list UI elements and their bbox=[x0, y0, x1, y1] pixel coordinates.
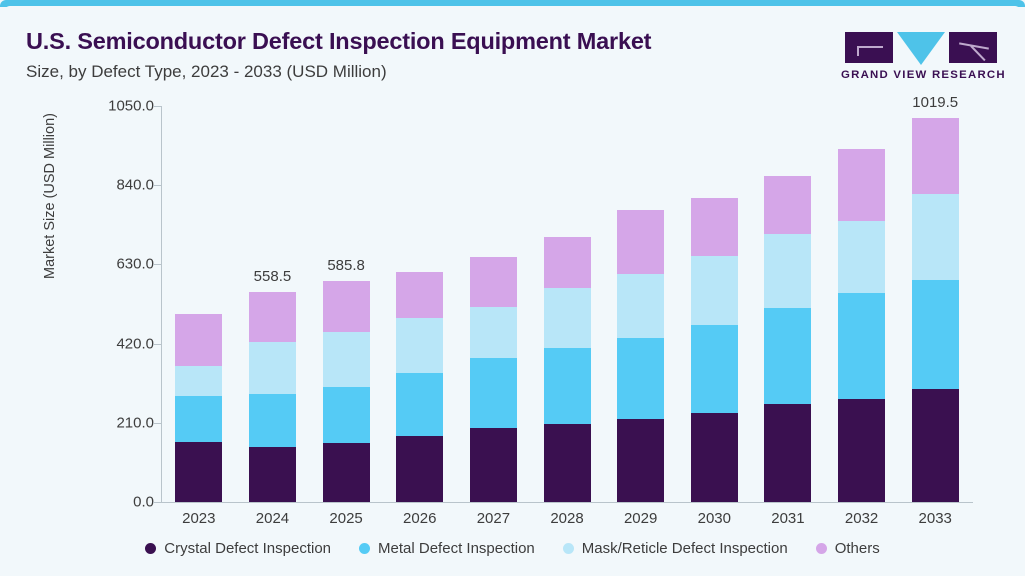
bar-segment-mask-reticle-defect-inspection[interactable] bbox=[249, 342, 296, 394]
bar-segment-metal-defect-inspection[interactable] bbox=[249, 394, 296, 446]
bar-segment-crystal-defect-inspection[interactable] bbox=[691, 413, 738, 502]
legend-label: Mask/Reticle Defect Inspection bbox=[582, 540, 788, 557]
legend-item-mask-reticle-defect-inspection[interactable]: Mask/Reticle Defect Inspection bbox=[563, 540, 788, 557]
x-axis-tick-label: 2028 bbox=[550, 510, 583, 527]
legend-item-metal-defect-inspection[interactable]: Metal Defect Inspection bbox=[359, 540, 535, 557]
chart-legend: Crystal Defect InspectionMetal Defect In… bbox=[4, 540, 1021, 557]
bar-group-2026[interactable]: 2026 bbox=[383, 106, 457, 502]
y-axis-tick-mark bbox=[153, 264, 162, 265]
bar-segment-metal-defect-inspection[interactable] bbox=[912, 280, 959, 389]
bar-segment-metal-defect-inspection[interactable] bbox=[323, 387, 370, 443]
bar-segment-mask-reticle-defect-inspection[interactable] bbox=[175, 366, 222, 395]
bar-segment-metal-defect-inspection[interactable] bbox=[691, 325, 738, 413]
bar-segment-others[interactable] bbox=[912, 118, 959, 194]
bar-value-label: 585.8 bbox=[327, 257, 365, 274]
bar-segment-mask-reticle-defect-inspection[interactable] bbox=[764, 234, 811, 308]
y-axis-tick-label: 420.0 bbox=[54, 335, 154, 352]
bar-stack[interactable] bbox=[544, 237, 591, 502]
bar-segment-others[interactable] bbox=[617, 210, 664, 274]
bar-segment-others[interactable] bbox=[323, 281, 370, 332]
legend-swatch-icon bbox=[145, 543, 156, 554]
bar-group-2028[interactable]: 2028 bbox=[530, 106, 604, 502]
bar-series-container: 2023558.52024585.82025202620272028202920… bbox=[162, 106, 972, 502]
bar-segment-others[interactable] bbox=[838, 149, 885, 221]
y-axis-tick-mark bbox=[153, 502, 162, 503]
bar-stack[interactable]: 585.8 bbox=[323, 281, 370, 502]
legend-swatch-icon bbox=[359, 543, 370, 554]
x-axis-tick-label: 2032 bbox=[845, 510, 878, 527]
bar-stack[interactable] bbox=[764, 176, 811, 502]
bar-stack[interactable] bbox=[470, 257, 517, 502]
bar-segment-crystal-defect-inspection[interactable] bbox=[838, 399, 885, 502]
bar-segment-mask-reticle-defect-inspection[interactable] bbox=[396, 318, 443, 373]
bar-stack[interactable] bbox=[838, 149, 885, 502]
bar-group-2025[interactable]: 585.82025 bbox=[309, 106, 383, 502]
bar-group-2024[interactable]: 558.52024 bbox=[236, 106, 310, 502]
y-axis-tick-label: 1050.0 bbox=[54, 98, 154, 115]
bar-segment-crystal-defect-inspection[interactable] bbox=[544, 424, 591, 502]
x-axis-tick-label: 2029 bbox=[624, 510, 657, 527]
bar-segment-others[interactable] bbox=[544, 237, 591, 288]
y-axis-tick-label: 630.0 bbox=[54, 256, 154, 273]
bar-group-2031[interactable]: 2031 bbox=[751, 106, 825, 502]
bar-stack[interactable] bbox=[691, 198, 738, 502]
y-axis-tick-label: 840.0 bbox=[54, 177, 154, 194]
bar-segment-crystal-defect-inspection[interactable] bbox=[617, 419, 664, 502]
bar-value-label: 558.5 bbox=[254, 268, 292, 285]
x-axis-line bbox=[161, 502, 973, 503]
y-axis-tick-mark bbox=[153, 344, 162, 345]
bar-segment-crystal-defect-inspection[interactable] bbox=[396, 436, 443, 502]
y-axis-tick-mark bbox=[153, 106, 162, 107]
bar-segment-metal-defect-inspection[interactable] bbox=[470, 358, 517, 428]
x-axis-tick-label: 2026 bbox=[403, 510, 436, 527]
bar-segment-others[interactable] bbox=[470, 257, 517, 307]
bar-segment-mask-reticle-defect-inspection[interactable] bbox=[323, 332, 370, 387]
y-axis-tick-label: 0.0 bbox=[54, 494, 154, 511]
y-axis-tick-label: 210.0 bbox=[54, 414, 154, 431]
x-axis-tick-label: 2025 bbox=[329, 510, 362, 527]
legend-label: Crystal Defect Inspection bbox=[164, 540, 331, 557]
bar-group-2027[interactable]: 2027 bbox=[457, 106, 531, 502]
y-axis-tick-mark bbox=[153, 423, 162, 424]
y-axis-tick-mark bbox=[153, 185, 162, 186]
bar-segment-others[interactable] bbox=[396, 272, 443, 318]
bar-segment-others[interactable] bbox=[764, 176, 811, 234]
x-axis-tick-label: 2023 bbox=[182, 510, 215, 527]
legend-label: Others bbox=[835, 540, 880, 557]
bar-segment-mask-reticle-defect-inspection[interactable] bbox=[691, 256, 738, 325]
bar-group-2030[interactable]: 2030 bbox=[677, 106, 751, 502]
legend-item-others[interactable]: Others bbox=[816, 540, 880, 557]
bar-stack[interactable]: 1019.5 bbox=[912, 118, 959, 502]
bar-segment-mask-reticle-defect-inspection[interactable] bbox=[617, 274, 664, 338]
bar-segment-metal-defect-inspection[interactable] bbox=[838, 293, 885, 399]
bar-segment-crystal-defect-inspection[interactable] bbox=[323, 443, 370, 502]
bar-group-2033[interactable]: 1019.52033 bbox=[898, 106, 972, 502]
bar-segment-crystal-defect-inspection[interactable] bbox=[912, 389, 959, 502]
bar-segment-mask-reticle-defect-inspection[interactable] bbox=[912, 194, 959, 280]
bar-segment-mask-reticle-defect-inspection[interactable] bbox=[470, 307, 517, 359]
x-axis-tick-label: 2031 bbox=[771, 510, 804, 527]
bar-stack[interactable] bbox=[175, 314, 222, 502]
x-axis-tick-label: 2030 bbox=[698, 510, 731, 527]
bar-segment-metal-defect-inspection[interactable] bbox=[544, 348, 591, 424]
legend-label: Metal Defect Inspection bbox=[378, 540, 535, 557]
bar-segment-crystal-defect-inspection[interactable] bbox=[249, 447, 296, 502]
plot-area: 0.0210.0420.0630.0840.01050.0 2023558.52… bbox=[162, 106, 972, 502]
x-axis-tick-label: 2024 bbox=[256, 510, 289, 527]
x-axis-tick-label: 2027 bbox=[477, 510, 510, 527]
chart-frame: U.S. Semiconductor Defect Inspection Equ… bbox=[4, 6, 1021, 572]
bar-segment-mask-reticle-defect-inspection[interactable] bbox=[838, 221, 885, 293]
bar-group-2032[interactable]: 2032 bbox=[825, 106, 899, 502]
bar-segment-crystal-defect-inspection[interactable] bbox=[175, 442, 222, 502]
bar-value-label: 1019.5 bbox=[912, 94, 958, 111]
bar-segment-mask-reticle-defect-inspection[interactable] bbox=[544, 288, 591, 348]
bar-segment-others[interactable] bbox=[175, 314, 222, 366]
bar-segment-metal-defect-inspection[interactable] bbox=[396, 373, 443, 436]
bar-group-2023[interactable]: 2023 bbox=[162, 106, 236, 502]
bar-segment-crystal-defect-inspection[interactable] bbox=[470, 428, 517, 502]
bar-segment-crystal-defect-inspection[interactable] bbox=[764, 404, 811, 502]
chart-page: U.S. Semiconductor Defect Inspection Equ… bbox=[0, 0, 1025, 576]
bar-stack[interactable]: 558.5 bbox=[249, 292, 296, 502]
legend-item-crystal-defect-inspection[interactable]: Crystal Defect Inspection bbox=[145, 540, 331, 557]
legend-swatch-icon bbox=[563, 543, 574, 554]
bar-segment-metal-defect-inspection[interactable] bbox=[617, 338, 664, 419]
bar-segment-metal-defect-inspection[interactable] bbox=[764, 308, 811, 404]
bar-stack[interactable] bbox=[396, 272, 443, 502]
bar-stack[interactable] bbox=[617, 210, 664, 502]
bar-group-2029[interactable]: 2029 bbox=[604, 106, 678, 502]
legend-swatch-icon bbox=[816, 543, 827, 554]
bar-segment-metal-defect-inspection[interactable] bbox=[175, 396, 222, 442]
bar-segment-others[interactable] bbox=[691, 198, 738, 256]
bar-segment-others[interactable] bbox=[249, 292, 296, 342]
plot-wrapper: Market Size (USD Million) 0.0210.0420.06… bbox=[4, 6, 1021, 572]
x-axis-tick-label: 2033 bbox=[919, 510, 952, 527]
